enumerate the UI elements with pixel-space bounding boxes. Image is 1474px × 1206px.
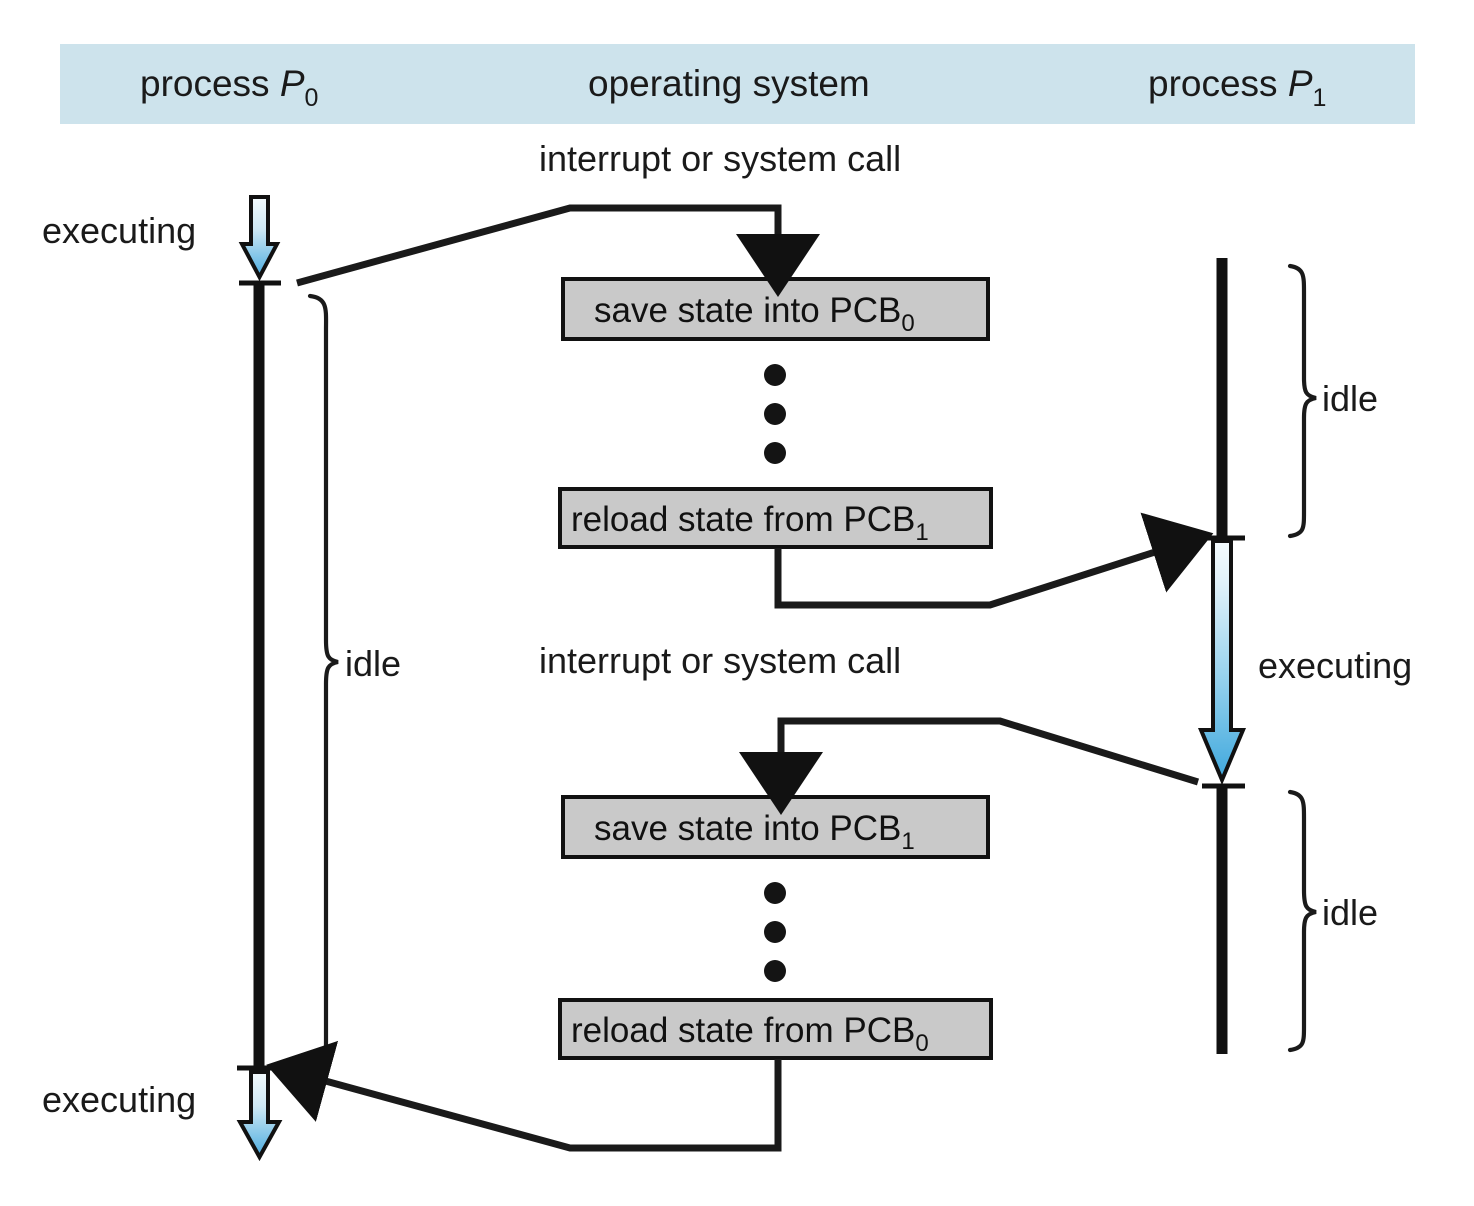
p0-executing-arrow-top bbox=[242, 197, 277, 277]
header-p0-symbol: P bbox=[280, 63, 305, 104]
os-box-reload-pcb1: reload state from PCB1 bbox=[560, 489, 991, 547]
os-box-save-pcb1-subscript: 1 bbox=[901, 828, 914, 855]
flow-p1-to-save-pcb1 bbox=[781, 721, 1198, 782]
p1-idle-label-bottom: idle bbox=[1322, 892, 1378, 933]
p1-idle-brace-top bbox=[1290, 266, 1316, 536]
p1-idle-brace-bottom bbox=[1290, 792, 1316, 1050]
flow-reload-pcb0-to-p0 bbox=[300, 1059, 778, 1148]
p0-executing-label-top: executing bbox=[42, 210, 196, 251]
os-box-save-pcb1-text: save state into PCB bbox=[594, 809, 901, 848]
os-box-reload-pcb0-text: reload state from PCB bbox=[571, 1011, 915, 1050]
p1-executing-label: executing bbox=[1258, 645, 1412, 686]
diagram-canvas: process P0 operating system process P1 bbox=[0, 0, 1474, 1206]
ellipsis-lower bbox=[764, 882, 786, 982]
header-p0-subscript: 0 bbox=[305, 84, 319, 112]
context-switch-diagram: process P0 operating system process P1 bbox=[0, 0, 1474, 1206]
header-label-operating-system: operating system bbox=[588, 63, 870, 104]
header-os-text: operating system bbox=[588, 63, 870, 104]
flow-reload-pcb1-to-p1 bbox=[778, 544, 1180, 605]
ellipsis-upper bbox=[764, 364, 786, 464]
os-box-save-pcb1: save state into PCB1 bbox=[563, 797, 988, 857]
p0-idle-brace bbox=[310, 296, 338, 1064]
os-box-reload-pcb0-subscript: 0 bbox=[915, 1030, 928, 1057]
os-box-save-pcb0: save state into PCB0 bbox=[563, 279, 988, 339]
os-box-save-pcb0-text: save state into PCB bbox=[594, 291, 901, 330]
os-box-reload-pcb1-text: reload state from PCB bbox=[571, 500, 915, 539]
os-box-reload-pcb1-subscript: 1 bbox=[915, 519, 928, 546]
interrupt-label-2: interrupt or system call bbox=[539, 640, 901, 681]
header-p1-symbol: P bbox=[1288, 63, 1313, 104]
p1-idle-label-top: idle bbox=[1322, 378, 1378, 419]
header-p1-subscript: 1 bbox=[1313, 84, 1327, 112]
p0-executing-arrow-bottom bbox=[240, 1072, 279, 1157]
os-box-save-pcb0-subscript: 0 bbox=[901, 310, 914, 337]
p0-idle-label: idle bbox=[345, 643, 401, 684]
os-box-reload-pcb0: reload state from PCB0 bbox=[560, 1000, 991, 1058]
flow-p0-to-save-pcb0 bbox=[297, 208, 778, 283]
interrupt-label-1: interrupt or system call bbox=[539, 138, 901, 179]
header-p0-text: process bbox=[140, 63, 280, 104]
p0-executing-label-bottom: executing bbox=[42, 1079, 196, 1120]
p1-executing-arrow bbox=[1201, 541, 1243, 780]
header-p1-text: process bbox=[1148, 63, 1288, 104]
